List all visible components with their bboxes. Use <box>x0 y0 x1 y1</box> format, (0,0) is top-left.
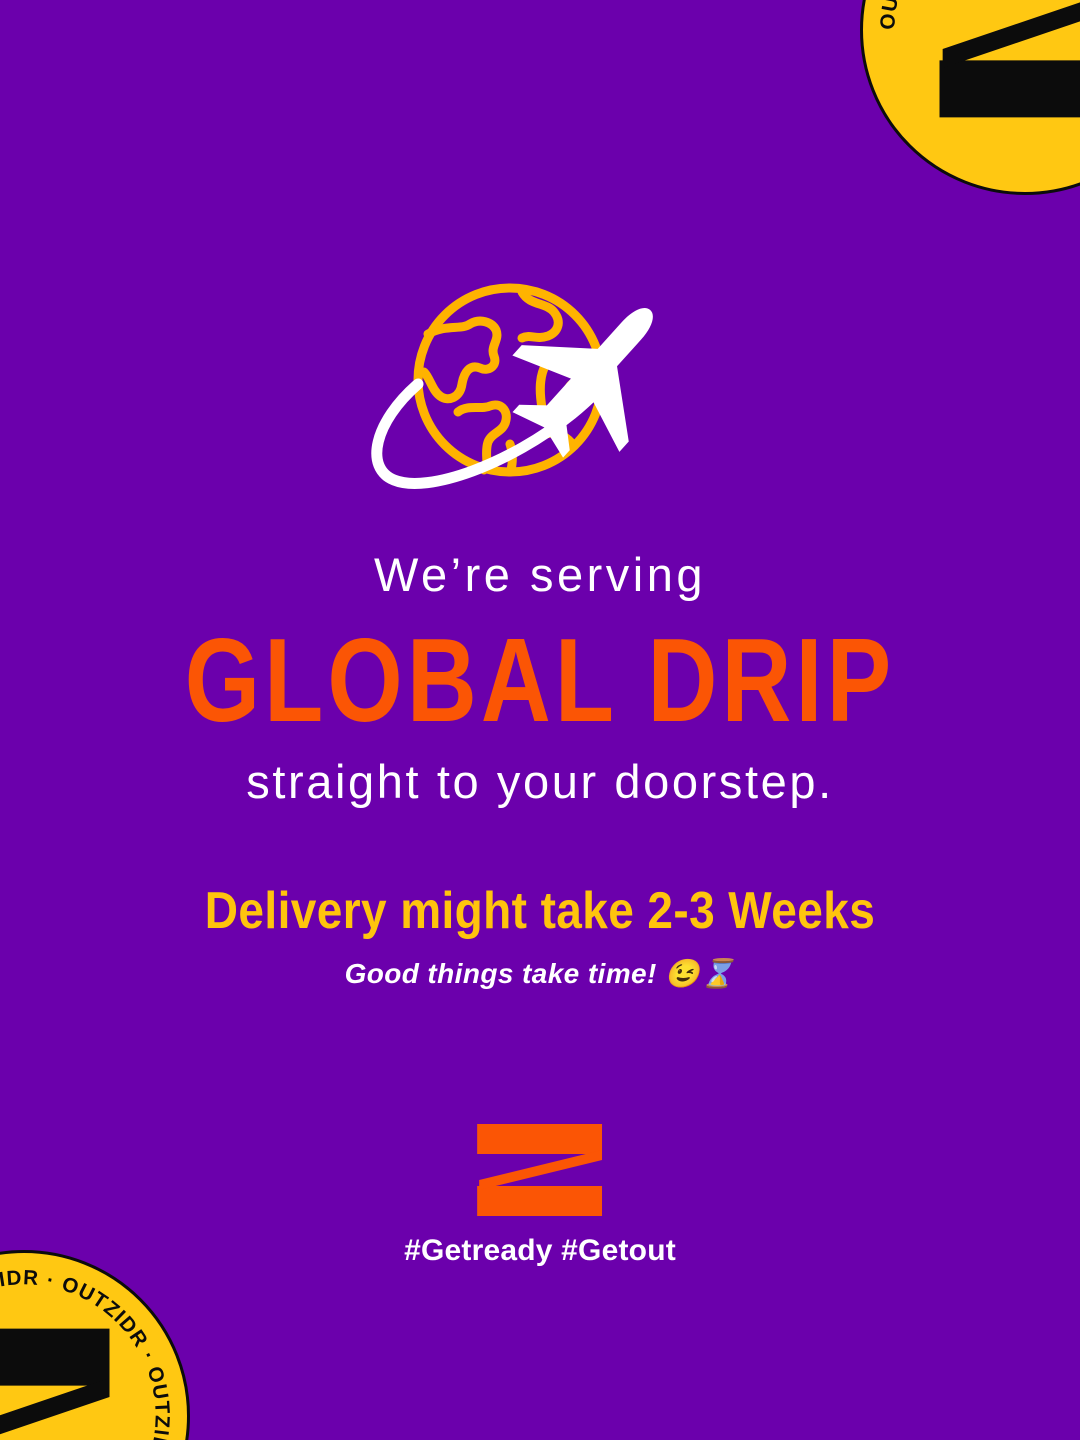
badge-center-zmark-bottom-left: OUTZIDR <box>0 1321 119 1440</box>
delivery-subnote: Good things take time! 😉⌛ <box>0 957 1080 990</box>
badge-center-zmark-top-right <box>930 0 1080 125</box>
z-logo-icon <box>930 0 1080 125</box>
delivery-estimate: Delivery might take 2-3 Weeks <box>0 880 1080 940</box>
globe-airplane-icon <box>350 272 730 522</box>
promo-poster: OUTZIDR · OUTZIDR · OUTZIDR · OUTZIDR · … <box>0 0 1080 1440</box>
tagline-line-1: We’re serving <box>0 548 1080 602</box>
z-logo-icon <box>477 1124 602 1216</box>
headline: GLOBAL DRIP <box>0 614 1080 747</box>
copy-block: We’re serving GLOBAL DRIP straight to yo… <box>0 548 1080 990</box>
hashtags: #Getready #Getout <box>404 1234 676 1268</box>
footer-logo: #Getready #Getout <box>404 1124 676 1268</box>
z-logo-icon <box>0 1321 119 1440</box>
badge-bottom-left: OUTZIDR · OUTZIDR · OUTZIDR · OUTZIDR · … <box>0 1250 190 1440</box>
badge-top-right: OUTZIDR · OUTZIDR · OUTZIDR · OUTZIDR · <box>860 0 1080 195</box>
tagline-line-2: straight to your doorstep. <box>0 755 1080 809</box>
